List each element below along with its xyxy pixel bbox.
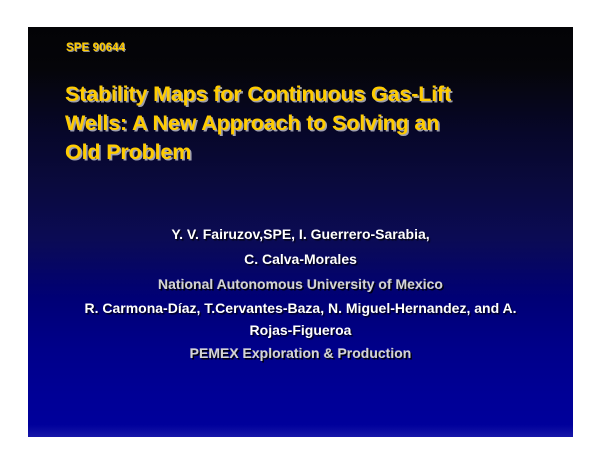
author-line: R. Carmona-Díaz, T.Cervantes-Baza, N. Mi… — [28, 297, 573, 341]
authors-block: Y. V. Fairuzov,SPE, I. Guerrero-Sarabia,… — [28, 222, 573, 366]
paper-id-label: SPE 90644 — [66, 42, 125, 54]
author-line: C. Calva-Morales — [28, 247, 573, 272]
slide-canvas: SPE 90644 Stability Maps for Continuous … — [0, 0, 600, 464]
presentation-title-slide: SPE 90644 Stability Maps for Continuous … — [28, 27, 573, 437]
slide-title-line-3: Old Problem — [65, 138, 545, 167]
slide-title-line-2: Wells: A New Approach to Solving an — [65, 109, 545, 138]
slide-title-line-1: Stability Maps for Continuous Gas-Lift — [65, 80, 545, 109]
slide-title: Stability Maps for Continuous Gas-Lift W… — [65, 80, 545, 167]
affiliation-line: National Autonomous University of Mexico — [28, 272, 573, 297]
author-line: Y. V. Fairuzov,SPE, I. Guerrero-Sarabia, — [28, 222, 573, 247]
affiliation-line: PEMEX Exploration & Production — [28, 341, 573, 366]
